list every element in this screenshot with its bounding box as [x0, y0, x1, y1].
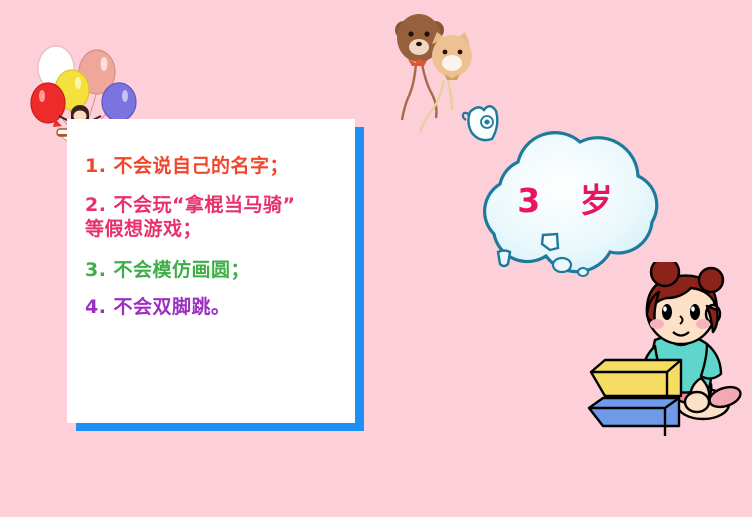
box-blue — [589, 398, 679, 436]
checklist-item-4: 4. 不会双脚跳。 — [85, 295, 345, 320]
checklist-item-1: 1. 不会说自己的名字； — [85, 154, 345, 179]
girl-with-boxes-decoration — [585, 262, 752, 442]
poster-canvas: 1. 不会说自己的名字； 2. 不会玩“拿棍当马骑” 等假想游戏； 3. 不会模… — [0, 0, 752, 517]
checklist-item-3: 3. 不会模仿画圆； — [85, 258, 345, 283]
warning-checklist: 1. 不会说自己的名字； 2. 不会玩“拿棍当马骑” 等假想游戏； 3. 不会模… — [67, 119, 355, 423]
balloon-purple — [102, 83, 136, 121]
bear-balloon-tan — [432, 32, 472, 80]
balloon-red — [31, 83, 65, 127]
checklist-item-2: 2. 不会玩“拿棍当马骑” 等假想游戏； — [85, 193, 345, 242]
